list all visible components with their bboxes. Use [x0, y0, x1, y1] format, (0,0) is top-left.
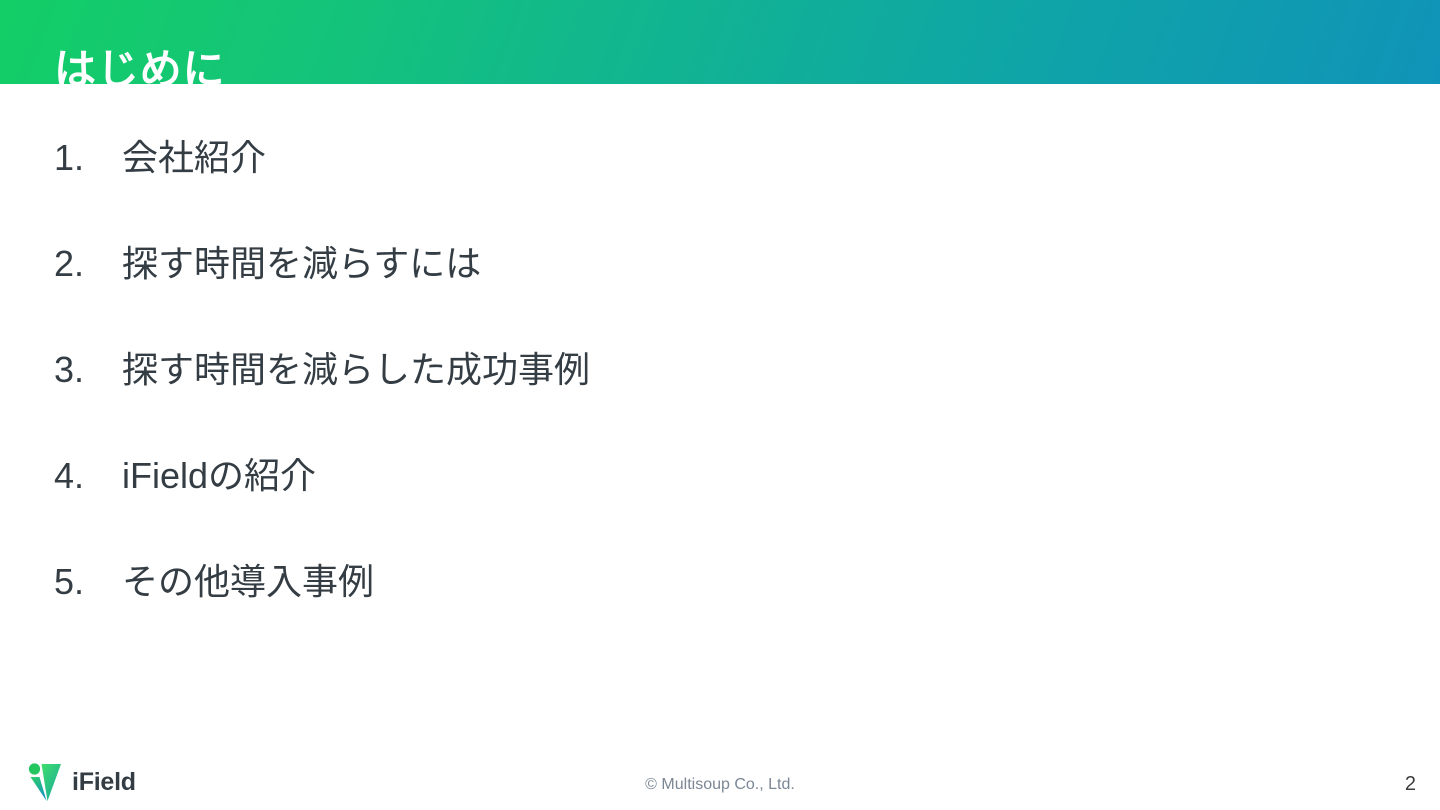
copyright-text: © Multisoup Co., Ltd. — [0, 777, 1440, 793]
agenda-list: 1. 会社紹介 2. 探す時間を減らすには 3. 探す時間を減らした成功事例 4… — [54, 140, 1384, 670]
agenda-item-number: 4. — [54, 458, 122, 494]
agenda-item-number: 5. — [54, 564, 122, 600]
slide-footer: iField © Multisoup Co., Ltd. 2 — [0, 740, 1440, 810]
agenda-item-label: 探す時間を減らした成功事例 — [122, 352, 590, 388]
agenda-item-number: 2. — [54, 246, 122, 282]
page-title: はじめに — [54, 28, 225, 112]
list-item: 5. その他導入事例 — [54, 564, 1384, 670]
agenda-item-label: 探す時間を減らすには — [122, 246, 481, 282]
slide: はじめに 1. 会社紹介 2. 探す時間を減らすには 3. 探す時間を減らした成… — [0, 0, 1440, 810]
list-item: 3. 探す時間を減らした成功事例 — [54, 352, 1384, 458]
agenda-item-label: 会社紹介 — [122, 140, 266, 176]
agenda-item-label: その他導入事例 — [122, 564, 374, 600]
list-item: 2. 探す時間を減らすには — [54, 246, 1384, 352]
page-number: 2 — [1405, 774, 1416, 794]
agenda-item-number: 3. — [54, 352, 122, 388]
list-item: 1. 会社紹介 — [54, 140, 1384, 246]
agenda-item-number: 1. — [54, 140, 122, 176]
agenda-item-label: iFieldの紹介 — [122, 458, 316, 494]
list-item: 4. iFieldの紹介 — [54, 458, 1384, 564]
